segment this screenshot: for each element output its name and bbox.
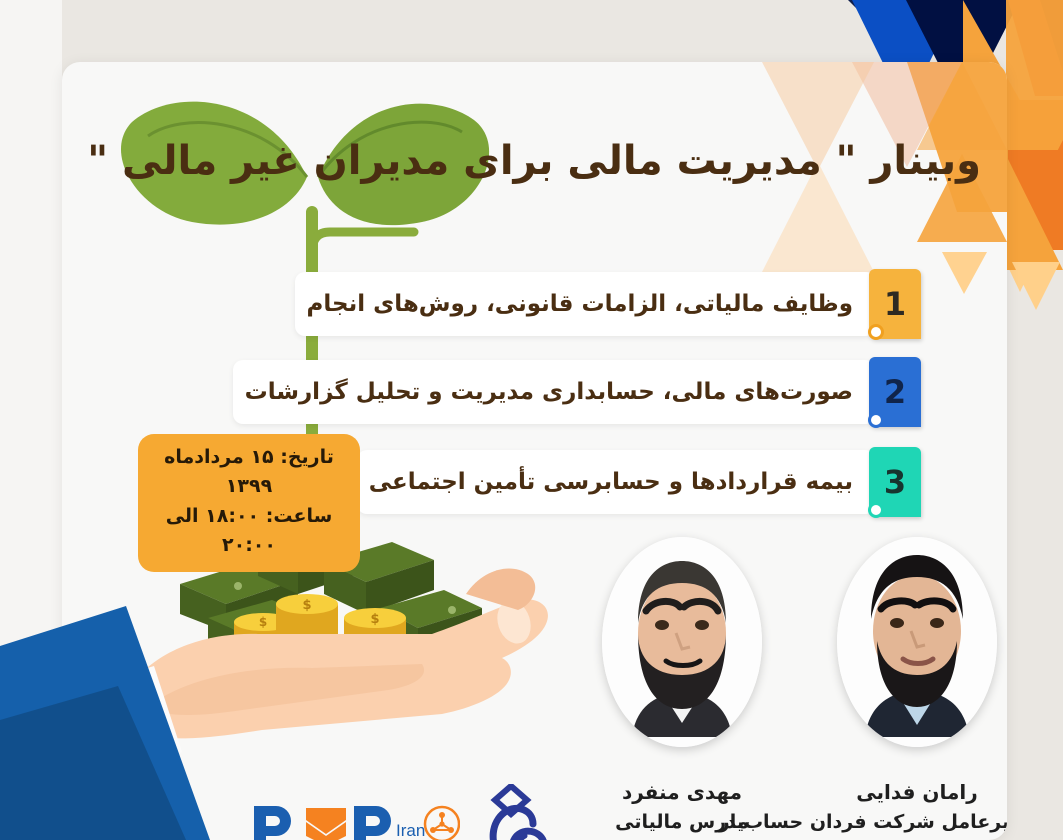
agenda-item-1-text: وظایف مالیاتی، الزامات قانونی، روش‌های ا… — [295, 272, 875, 336]
suit-sleeve — [0, 600, 260, 840]
speaker-2-portrait — [837, 537, 997, 747]
pmp-logo[interactable]: Iran Pishro Modiriat Piran Consulting — [250, 802, 460, 840]
schedule-badge: تاریخ: ۱۵ مردادماه ۱۳۹۹ ساعت: ۱۸:۰۰ الی … — [138, 434, 360, 572]
fardan-logo-svg — [467, 784, 587, 840]
fardan-logo[interactable]: فردان‌حساب‌یار — [467, 784, 616, 840]
pmp-logo-svg: Iran — [250, 802, 460, 840]
speaker-1-avatar — [602, 537, 762, 747]
agenda-item-1-number-badge: 1 — [869, 269, 921, 339]
schedule-time: ساعت: ۱۸:۰۰ الی ۲۰:۰۰ — [148, 502, 350, 561]
agenda-item-3-number-badge: 3 — [869, 447, 921, 517]
agenda-item-2-text: صورت‌های مالی، حسابداری مدیریت و تحلیل گ… — [233, 360, 875, 424]
schedule-date: تاریخ: ۱۵ مردادماه ۱۳۹۹ — [148, 443, 350, 502]
agenda-item-1[interactable]: وظایف مالیاتی، الزامات قانونی، روش‌های ا… — [295, 272, 921, 339]
speaker-2-avatar — [837, 537, 997, 747]
agenda-item-2-number-badge: 2 — [869, 357, 921, 427]
page-title: وبینار " مدیریت مالی برای مدیران غیر مال… — [81, 136, 981, 186]
portrait-1-eye-left — [655, 620, 669, 630]
portrait-2-eye-right — [930, 618, 944, 628]
speaker-2-name: رامان فدایی — [802, 777, 1007, 807]
pmp-letter-p2 — [354, 806, 391, 840]
pmp-logo-suffix: Iran — [396, 821, 425, 840]
portrait-2-eye-left — [890, 618, 904, 628]
portrait-1-eye-right — [695, 620, 709, 630]
agenda-item-3[interactable]: بیمه قراردادها و حسابرسی تأمین اجتماعی 3 — [357, 450, 921, 517]
agenda-item-1-number: 1 — [884, 285, 906, 323]
agenda-item-2-number: 2 — [884, 373, 906, 411]
agenda-item-3-number: 3 — [884, 463, 906, 501]
speaker-2-role: مدیرعامل شرکت فردان حساب‌یار — [802, 807, 1007, 837]
network-links — [433, 815, 451, 830]
fardan-spiral-icon — [493, 808, 544, 840]
speaker-1-portrait — [602, 537, 762, 747]
agenda-item-2[interactable]: صورت‌های مالی، حسابداری مدیریت و تحلیل گ… — [233, 360, 921, 427]
pmp-logo-mark: Iran — [250, 802, 460, 840]
agenda-item-3-text: بیمه قراردادها و حسابرسی تأمین اجتماعی — [357, 450, 875, 514]
speaker-2-caption: رامان فدایی مدیرعامل شرکت فردان حساب‌یار — [802, 777, 1007, 837]
